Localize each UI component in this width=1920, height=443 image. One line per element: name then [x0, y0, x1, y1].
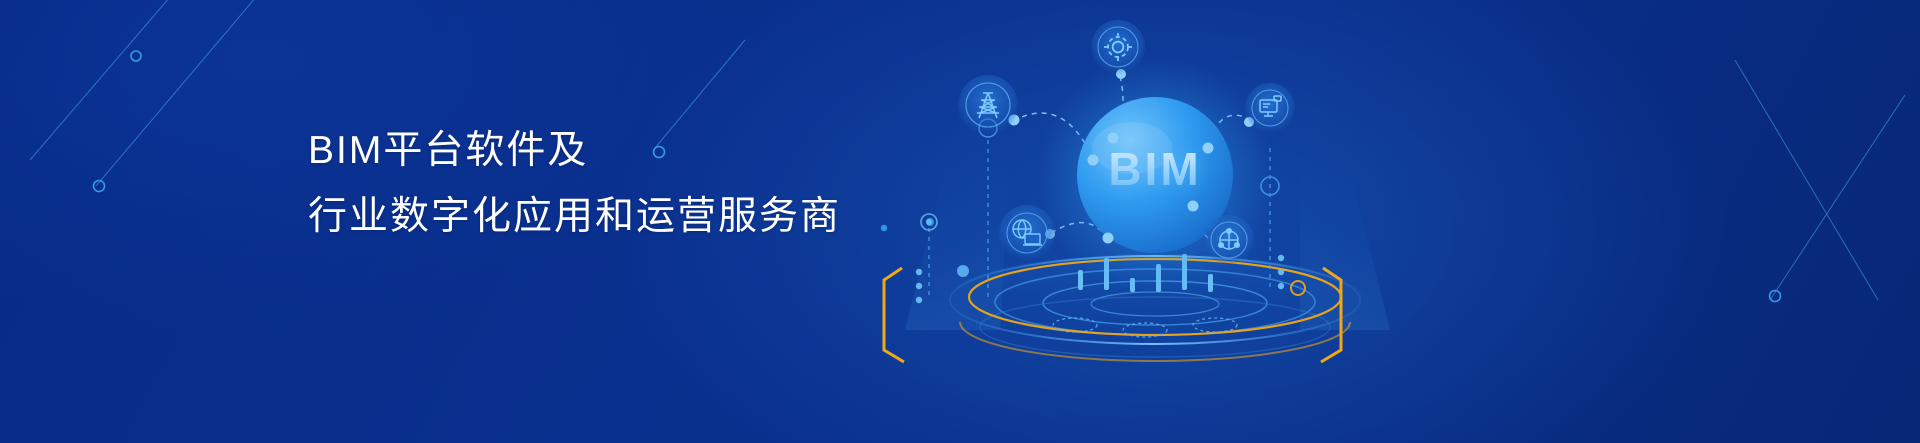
- node-network[interactable]: [1204, 215, 1254, 265]
- bracket-left: [884, 268, 904, 362]
- node-gear[interactable]: [1091, 20, 1145, 74]
- node-power-tower[interactable]: [958, 75, 1018, 135]
- node-globe-laptop[interactable]: [999, 205, 1055, 261]
- hero-banner: BIM平台软件及 行业数字化应用和运营服务商: [0, 0, 1920, 443]
- bim-illustration: [0, 0, 1920, 443]
- node-monitor[interactable]: [1245, 83, 1295, 133]
- bim-core-label: BIM: [1060, 142, 1250, 196]
